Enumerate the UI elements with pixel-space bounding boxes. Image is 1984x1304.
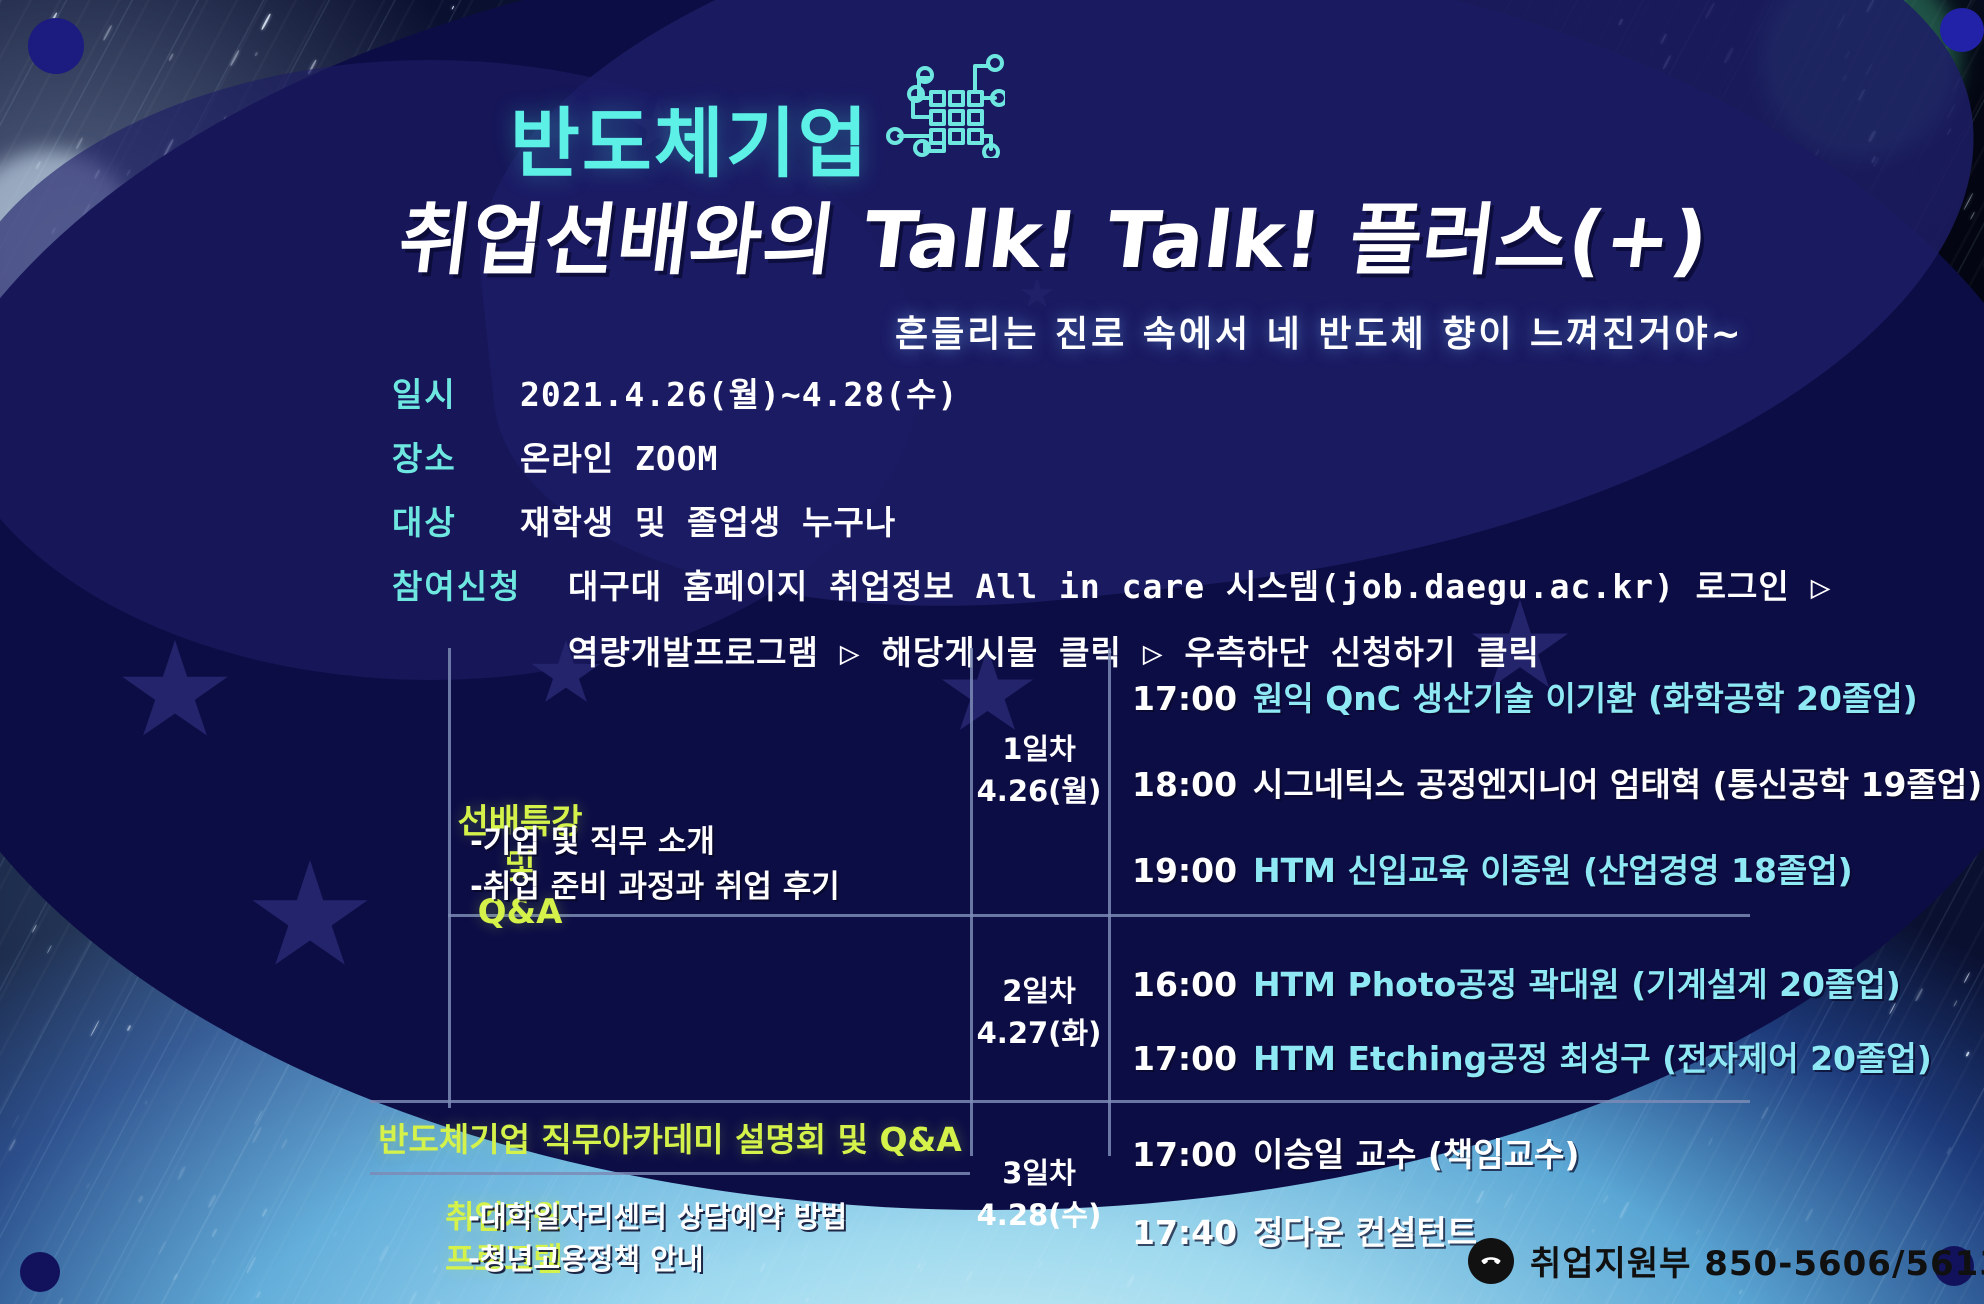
session-text: HTM 신입교육 이종원 (산업경영 18졸업) [1253,851,1853,890]
day-date: 4.28(수) [970,1194,1108,1236]
category-desc: -대학일자리센터 상담예약 방법-청년고용정책 안내 [468,1196,988,1280]
session-text: 이승일 교수 (책임교수) [1253,1135,1579,1174]
info-value: 온라인 ZOOM [520,432,718,480]
session-text: HTM Etching공정 최성구 (전자제어 20졸업) [1253,1039,1932,1078]
day-label: 3일차 [970,1152,1108,1194]
decorative-dot [1940,8,1984,52]
day-date: 4.27(화) [970,1012,1108,1054]
session-time: 19:00 [1132,851,1237,890]
main-title: 취업선배와의 Talk! Talk! 플러스(+) [393,178,1527,290]
info-row-audience: 대상 재학생 및 졸업생 누구나 [392,496,1692,544]
decorative-dot [20,1252,60,1292]
info-list: 일시 2021.4.26(월)~4.28(수) 장소 온라인 ZOOM 대상 재… [392,368,1692,674]
session-time: 16:00 [1132,965,1237,1004]
circuit-chip-icon [885,48,1005,158]
info-label: 일시 [392,368,520,416]
session-text: HTM Photo공정 곽대원 (기계설계 20졸업) [1253,965,1901,1004]
session-row: 17:40정다운 컨설턴트 [1132,1206,1477,1254]
tagline: 흔들리는 진로 속에서 네 반도체 향이 느껴진거야~ [895,305,1744,357]
footer-contact: 취업지원부 850-5606/5613 [1468,1236,1984,1285]
day-label: 2일차 [970,970,1108,1012]
day-date: 4.26(월) [970,770,1108,812]
info-row-place: 장소 온라인 ZOOM [392,432,1692,480]
category-label: 반도체기업 직무아카데미 설명회 및 Q&A [370,1118,970,1162]
session-time: 17:00 [1132,679,1237,718]
session-row: 18:00시그네틱스 공정엔지니어 엄태혁 (통신공학 19졸업) [1132,758,1982,806]
footer-text: 취업지원부 850-5606/5613 [1530,1236,1984,1285]
session-text: 원익 QnC 생산기술 이기환 (화학공학 20졸업) [1253,679,1918,718]
session-row: 17:00HTM Etching공정 최성구 (전자제어 20졸업) [1132,1032,1932,1080]
session-row: 16:00HTM Photo공정 곽대원 (기계설계 20졸업) [1132,958,1901,1006]
table-vline-3 [1108,648,1111,1156]
category-3-desc: -대학일자리센터 상담예약 방법-청년고용정책 안내 [468,1196,988,1280]
poster-root: 반도체기업 취업선배와의 Talk! [0,0,1984,1304]
session-text: 정다운 컨설턴트 [1253,1213,1477,1252]
day-label: 1일차 [970,728,1108,770]
day-2-cell: 2일차 4.27(화) [970,970,1108,1054]
session-text: 시그네틱스 공정엔지니어 엄태혁 (통신공학 19졸업) [1253,765,1982,804]
session-time: 17:00 [1132,1039,1237,1078]
category-2-title: 반도체기업 직무아카데미 설명회 및 Q&A [370,1118,970,1162]
session-row: 17:00이승일 교수 (책임교수) [1132,1128,1579,1176]
category-desc: -기업 및 직무 소개-취업 준비 과정과 취업 후기 [470,820,970,910]
info-label: 참여신청 [392,560,568,608]
info-value: 2021.4.26(월)~4.28(수) [520,368,958,416]
category-1-desc: -기업 및 직무 소개-취업 준비 과정과 취업 후기 [470,820,970,910]
session-time: 17:00 [1132,1135,1237,1174]
phone-icon [1468,1238,1514,1284]
day-1-cell: 1일차 4.26(월) [970,728,1108,812]
table-hline-day2-day3 [370,1100,1750,1103]
decorative-dot [28,18,84,74]
table-vline-2 [970,648,973,1156]
kicker-title: 반도체기업 [510,82,870,192]
info-row-date: 일시 2021.4.26(월)~4.28(수) [392,368,1692,416]
session-row: 17:00원익 QnC 생산기술 이기환 (화학공학 20졸업) [1132,672,1918,720]
info-label: 장소 [392,432,520,480]
info-label: 대상 [392,496,520,544]
table-hline-academy-support [370,1172,970,1175]
session-time: 18:00 [1132,765,1237,804]
info-row-apply: 참여신청 대구대 홈페이지 취업정보 All in care 시스템(job.d… [392,560,1692,608]
session-row: 19:00HTM 신입교육 이종원 (산업경영 18졸업) [1132,844,1853,892]
schedule-table: 선배특강및Q&A -기업 및 직무 소개-취업 준비 과정과 취업 후기 반도체… [370,640,1750,1140]
session-time: 17:40 [1132,1213,1237,1252]
info-value: 대구대 홈페이지 취업정보 All in care 시스템(job.daegu.… [568,560,1832,608]
day-3-cell: 3일차 4.28(수) [970,1152,1108,1236]
info-value: 재학생 및 졸업생 누구나 [520,496,896,544]
